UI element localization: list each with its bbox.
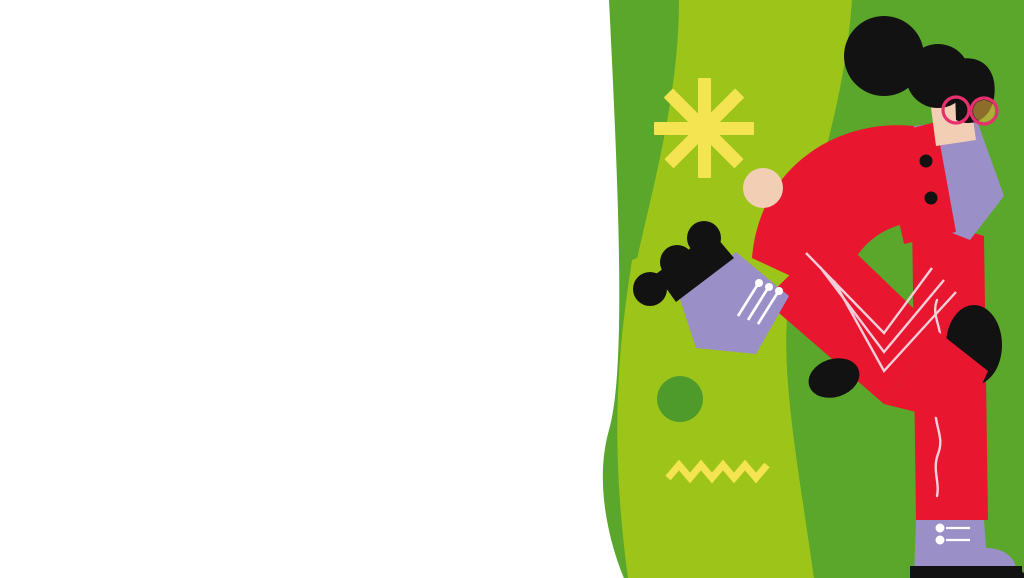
teen-skater-illustration: [584, 0, 1024, 578]
slide-root: COESIONE ITALIA 21-27 FONDI STRUTTURALI …: [0, 0, 1024, 578]
content-panel: [0, 0, 590, 578]
